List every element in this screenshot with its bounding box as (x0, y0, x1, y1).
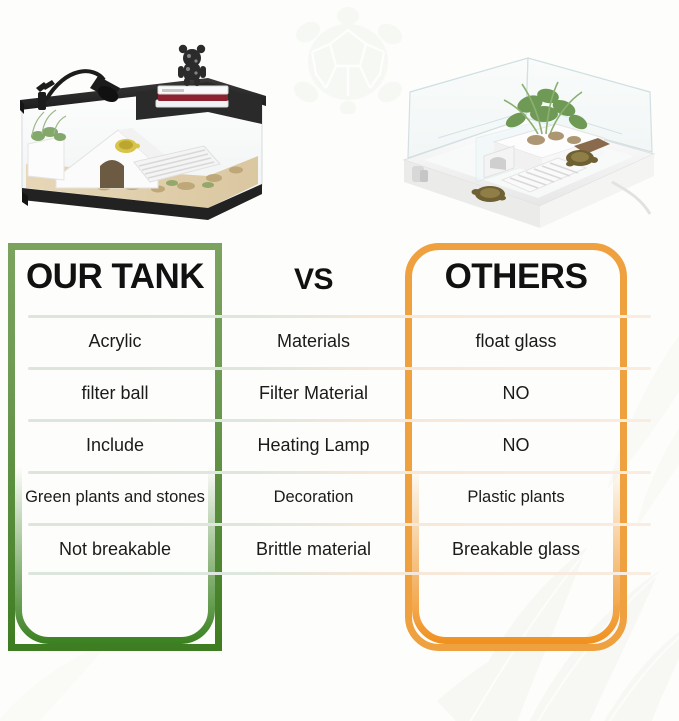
comparison-table: OUR TANK VS OTHERS AcrylicMaterialsfloat… (0, 243, 679, 653)
cell-feature-label: Heating Lamp (222, 419, 405, 471)
our-tank-header: OUR TANK (8, 253, 222, 301)
table-row: Green plants and stonesDecorationPlastic… (0, 471, 679, 523)
cell-feature-label: Brittle material (222, 523, 405, 575)
comparison-rows: AcrylicMaterialsfloat glassfilter ballFi… (0, 315, 679, 575)
vs-label: VS (222, 256, 405, 304)
others-header: OTHERS (405, 253, 627, 301)
table-row: AcrylicMaterialsfloat glass (0, 315, 679, 367)
cell-others-value: float glass (405, 315, 627, 367)
cell-others-value: NO (405, 419, 627, 471)
table-row: IncludeHeating LampNO (0, 419, 679, 471)
cell-our-tank-value: Include (8, 419, 222, 471)
comparison-header-row: OUR TANK VS OTHERS (0, 243, 679, 315)
cell-others-value: NO (405, 367, 627, 419)
cell-our-tank-value: Green plants and stones (8, 471, 222, 523)
comparison-infographic: OUR TANK VS OTHERS AcrylicMaterialsfloat… (0, 0, 679, 721)
others-tank-photo (398, 42, 660, 230)
table-row: Not breakableBrittle materialBreakable g… (0, 523, 679, 575)
row-divider (28, 572, 651, 575)
turtle-watermark-icon (286, 4, 410, 114)
cell-others-value: Breakable glass (405, 523, 627, 575)
cell-our-tank-value: Not breakable (8, 523, 222, 575)
cell-our-tank-value: Acrylic (8, 315, 222, 367)
cell-feature-label: Filter Material (222, 367, 405, 419)
cell-our-tank-value: filter ball (8, 367, 222, 419)
cell-feature-label: Decoration (222, 471, 405, 523)
our-tank-photo (8, 36, 270, 228)
cell-others-value: Plastic plants (405, 471, 627, 523)
table-row: filter ballFilter MaterialNO (0, 367, 679, 419)
cell-feature-label: Materials (222, 315, 405, 367)
